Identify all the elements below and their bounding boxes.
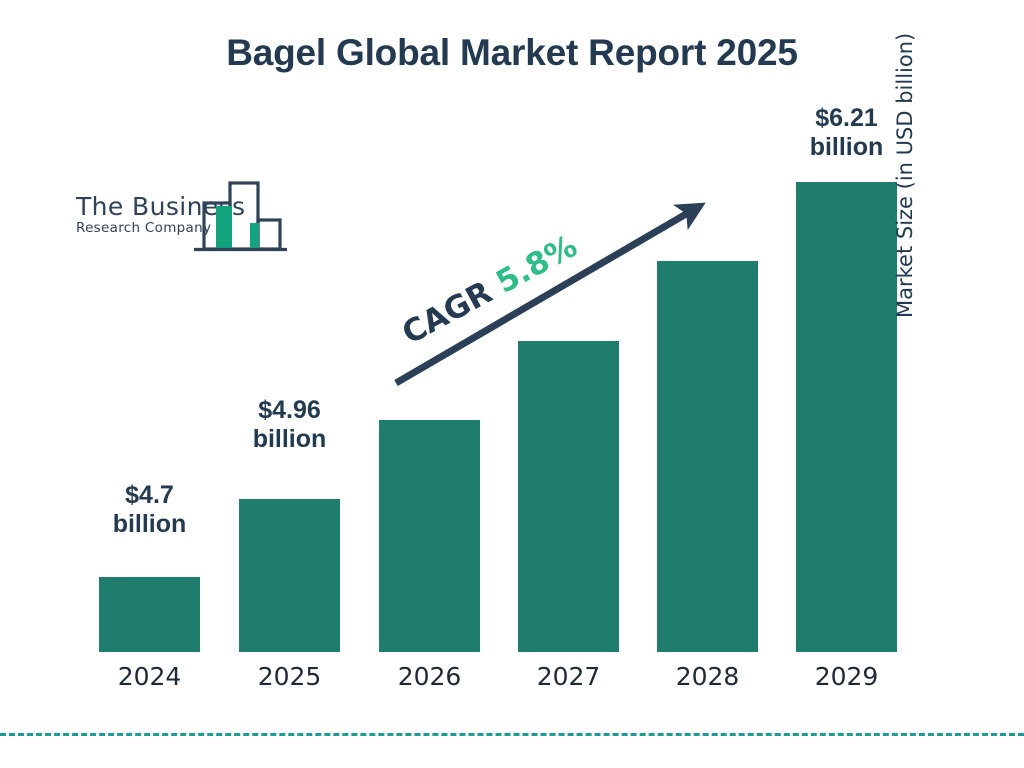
- bar-2028: [657, 261, 758, 652]
- xtick-2024: 2024: [99, 662, 200, 691]
- bar-2026: [379, 420, 480, 652]
- value-label-2025: $4.96 billion: [219, 396, 360, 454]
- value-label-2024: $4.7 billion: [79, 481, 220, 539]
- xtick-2025: 2025: [239, 662, 340, 691]
- bar-2024: [99, 577, 200, 652]
- xtick-2027: 2027: [518, 662, 619, 691]
- chart-canvas: Bagel Global Market Report 2025 The Busi…: [0, 0, 1024, 768]
- bar-2027: [518, 341, 619, 652]
- footer-divider: [0, 733, 1024, 736]
- bar-2029: [796, 182, 897, 652]
- xtick-2029: 2029: [796, 662, 897, 691]
- value-label-2025-number: $4.96: [219, 396, 360, 425]
- cagr-value: 5.8%: [490, 228, 583, 301]
- y-axis-label: Market Size (in USD billion): [893, 0, 917, 318]
- bar-chart-logo-mark-icon: [194, 180, 287, 252]
- value-label-2025-unit: billion: [219, 425, 360, 454]
- value-label-2024-number: $4.7: [79, 481, 220, 510]
- company-logo: The Business Research Company: [72, 180, 287, 256]
- xtick-2028: 2028: [657, 662, 758, 691]
- value-label-2024-unit: billion: [79, 510, 220, 539]
- page-title: Bagel Global Market Report 2025: [0, 32, 1024, 74]
- bar-2025: [239, 499, 340, 652]
- xtick-2026: 2026: [379, 662, 480, 691]
- cagr-label: CAGR: [396, 274, 498, 351]
- cagr-annotation: CAGR 5.8%: [396, 228, 583, 352]
